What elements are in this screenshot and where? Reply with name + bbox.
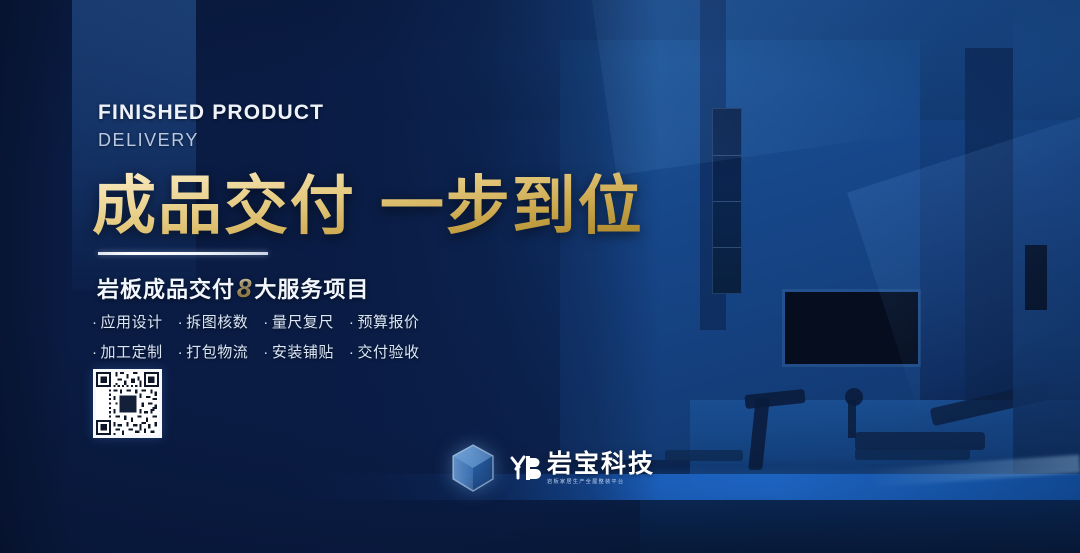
qr-center-logo	[117, 393, 138, 414]
title-divider	[98, 252, 268, 255]
service-row-1: 应用设计 拆图核数 量尺复尺 预算报价	[92, 311, 420, 332]
brand-tagline: 岩板家居生产全屋整装平台	[547, 480, 651, 485]
brand-name: 岩宝科技	[547, 451, 655, 476]
poster-content: FINISHED PRODUCT DELIVERY 成品交付 一步到位 岩板成品…	[0, 0, 1080, 553]
subheading-count: 8	[235, 273, 254, 304]
eyebrow-line-1: FINISHED PRODUCT	[98, 101, 324, 125]
poster-canvas: FINISHED PRODUCT DELIVERY 成品交付 一步到位 岩板成品…	[0, 0, 1080, 553]
subheading-prefix: 岩板成品交付	[97, 272, 235, 304]
service-list: 应用设计 拆图核数 量尺复尺 预算报价 加工定制 打包物流 安装铺贴 交付验收	[92, 311, 420, 371]
service-row-2: 加工定制 打包物流 安装铺贴 交付验收	[92, 341, 420, 362]
subheading-suffix: 大服务项目	[254, 272, 369, 304]
service-item: 预算报价	[349, 311, 420, 332]
service-item: 打包物流	[178, 341, 249, 362]
subheading: 岩板成品交付 8 大服务项目	[97, 272, 369, 304]
service-item: 拆图核数	[178, 311, 249, 332]
eyebrow-line-2: DELIVERY	[98, 130, 199, 151]
brand-text: 岩宝科技 岩板家居生产全屋整装平台	[547, 451, 655, 486]
qr-code[interactable]	[93, 369, 162, 438]
service-item: 交付验收	[349, 341, 420, 362]
service-item: 加工定制	[92, 341, 163, 362]
service-item: 安装铺贴	[263, 341, 334, 362]
cube-icon	[447, 441, 499, 495]
page-title: 成品交付 一步到位	[92, 155, 644, 247]
qr-code-image	[96, 372, 159, 435]
service-item: 量尺复尺	[263, 311, 334, 332]
service-item: 应用设计	[92, 311, 163, 332]
yb-monogram-icon	[507, 451, 541, 485]
brand-logo[interactable]: 岩宝科技 岩板家居生产全屋整装平台	[447, 441, 655, 495]
